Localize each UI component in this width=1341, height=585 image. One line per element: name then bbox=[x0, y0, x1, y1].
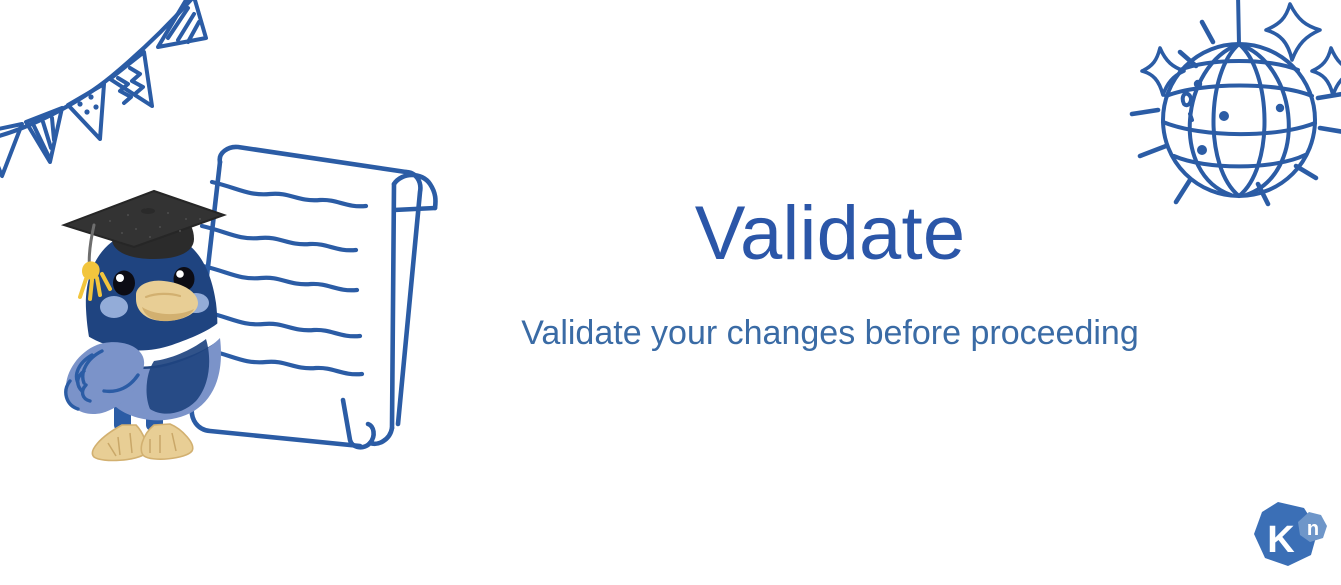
logo-badge-letter-n: n bbox=[1307, 518, 1319, 540]
certificate-scroll-icon bbox=[178, 138, 474, 453]
page-subtitle: Validate your changes before proceeding bbox=[470, 272, 1190, 353]
slide-canvas: K n Validate Validate your changes befor… bbox=[0, 0, 1341, 585]
page-title: Validate bbox=[470, 196, 1190, 272]
kn-logo: K n bbox=[1248, 498, 1330, 576]
logo-letter-k: K bbox=[1267, 519, 1295, 561]
title-text-block: Validate Validate your changes before pr… bbox=[470, 196, 1190, 353]
party-bunting-garland-icon bbox=[0, 0, 230, 200]
graduate-bird-mascot-icon bbox=[50, 185, 240, 475]
